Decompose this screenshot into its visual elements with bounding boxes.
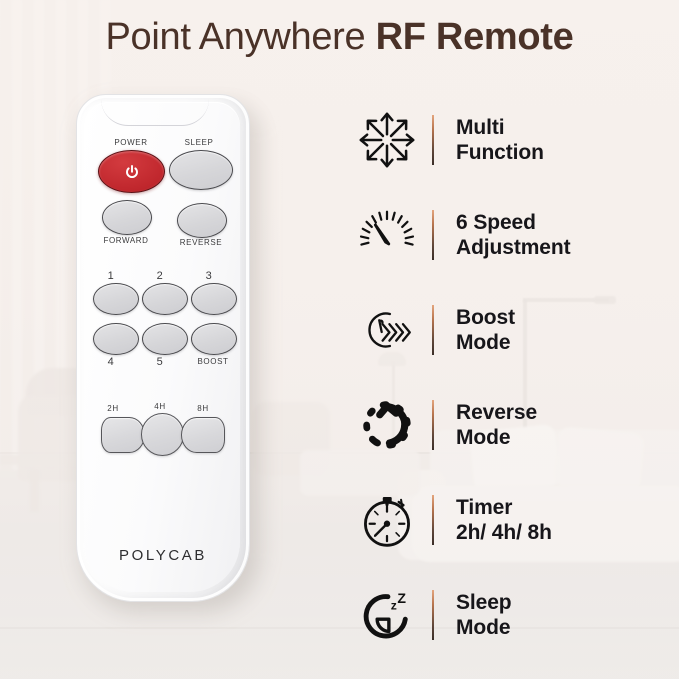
feature-label-multi-function: MultiFunction [456, 115, 544, 165]
remote-label-timer-4h: 4H [140, 402, 180, 411]
feature-item-boost-mode: BoostMode [348, 282, 670, 377]
remote-label-boost: BOOST [184, 357, 242, 366]
power-icon [124, 164, 139, 179]
remote-button-speed-5[interactable] [142, 323, 188, 355]
feature-label-sleep-mode: SleepMode [456, 590, 512, 640]
boost-chevrons-icon [348, 291, 426, 369]
feature-divider [432, 305, 434, 355]
remote-brand-logo: POLYCAB [77, 547, 249, 564]
remote-label-forward: FORWARD [86, 236, 166, 245]
promo-banner: Point Anywhere RF Remote POWER SLEEP FOR… [0, 0, 679, 679]
remote-button-speed-2[interactable] [142, 283, 188, 315]
page-title-bold: RF Remote [376, 16, 574, 58]
feature-label-reverse-mode: ReverseMode [456, 400, 537, 450]
reverse-circular-arrow-icon [348, 386, 426, 464]
speedometer-gauge-icon [348, 196, 426, 274]
remote-button-boost[interactable] [191, 323, 237, 355]
remote-button-speed-3[interactable] [191, 283, 237, 315]
remote-button-forward[interactable] [102, 200, 152, 235]
remote-button-speed-1[interactable] [93, 283, 139, 315]
feature-divider [432, 210, 434, 260]
feature-label-boost-mode: BoostMode [456, 305, 515, 355]
remote-button-speed-4[interactable] [93, 323, 139, 355]
remote-button-timer-8h[interactable] [181, 417, 225, 453]
svg-text:z: z [391, 598, 397, 612]
remote-button-power[interactable] [98, 150, 165, 193]
remote-label-speed-3: 3 [189, 270, 229, 282]
remote-label-speed-1: 1 [91, 270, 131, 282]
remote-label-speed-5: 5 [140, 356, 180, 368]
feature-label-6-speed-adjustment: 6 SpeedAdjustment [456, 210, 571, 260]
feature-divider [432, 400, 434, 450]
sleep-moon-zzz-icon: z Z [348, 576, 426, 654]
remote-button-reverse[interactable] [177, 203, 227, 238]
stopwatch-timer-icon [348, 481, 426, 559]
feature-item-multi-function: MultiFunction [348, 92, 670, 187]
remote-button-timer-4h[interactable] [141, 413, 184, 456]
feature-item-6-speed-adjustment: 6 SpeedAdjustment [348, 187, 670, 282]
remote-ir-emitter-curve [101, 99, 209, 126]
remote-label-sleep: SLEEP [159, 138, 239, 147]
page-title-regular: Point Anywhere [105, 16, 375, 58]
page-title: Point Anywhere RF Remote [0, 14, 679, 60]
feature-item-sleep-mode: z Z SleepMode [348, 567, 670, 662]
feature-item-reverse-mode: ReverseMode [348, 377, 670, 472]
feature-item-timer: Timer2h/ 4h/ 8h [348, 472, 670, 567]
remote-label-timer-8h: 8H [183, 404, 223, 413]
remote-body: POWER SLEEP FORWARD REVERSE 1 2 3 [76, 94, 250, 602]
remote-label-speed-2: 2 [140, 270, 180, 282]
feature-divider [432, 495, 434, 545]
remote-label-timer-2h: 2H [93, 404, 133, 413]
multi-direction-arrows-icon [348, 101, 426, 179]
remote-label-speed-4: 4 [91, 356, 131, 368]
feature-label-timer: Timer2h/ 4h/ 8h [456, 495, 552, 545]
svg-text:Z: Z [397, 589, 406, 605]
feature-divider [432, 115, 434, 165]
feature-divider [432, 590, 434, 640]
rf-remote-product-image: POWER SLEEP FORWARD REVERSE 1 2 3 [76, 94, 266, 614]
feature-list: MultiFunction [348, 92, 670, 662]
remote-label-reverse: REVERSE [161, 238, 241, 247]
remote-button-sleep[interactable] [169, 150, 233, 190]
remote-button-timer-2h[interactable] [101, 417, 145, 453]
